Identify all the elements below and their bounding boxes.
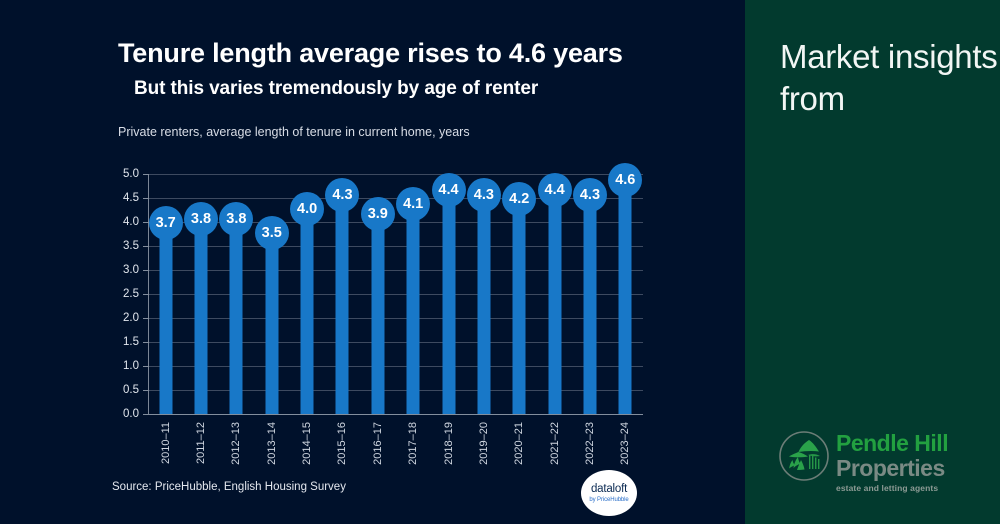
y-axis-label: 1.5: [123, 336, 139, 348]
bar-value-label: 4.4: [538, 173, 572, 207]
chart-bars-layer: 3.72010–113.82011–123.82012–133.52013–14…: [148, 174, 643, 414]
bar-value-label: 4.3: [573, 178, 607, 212]
y-axis-label: 3.5: [123, 240, 139, 252]
x-axis-label: 2011–12: [195, 422, 207, 464]
bar[interactable]: [301, 222, 314, 414]
y-axis-label: 0.0: [123, 408, 139, 420]
x-axis-label: 2014–15: [301, 422, 313, 465]
bar[interactable]: [513, 212, 526, 414]
gridline: [148, 414, 643, 415]
x-axis-label: 2022–23: [584, 422, 596, 465]
y-axis-label: 2.5: [123, 288, 139, 300]
bar-group[interactable]: 4.12017–18: [396, 174, 431, 414]
dataloft-logo-badge: dataloft by PriceHubble: [581, 470, 637, 516]
x-axis-label: 2020–21: [513, 422, 525, 465]
bar-value-label: 3.8: [219, 202, 253, 236]
bar[interactable]: [265, 246, 278, 414]
y-axis-tick: [143, 414, 148, 415]
bar-group[interactable]: 4.62023–24: [608, 174, 643, 414]
y-axis-label: 4.0: [123, 216, 139, 228]
bar-group[interactable]: 4.32015–16: [325, 174, 360, 414]
x-axis-label: 2012–13: [230, 422, 242, 465]
x-axis-label: 2017–18: [407, 422, 419, 465]
bar[interactable]: [371, 227, 384, 414]
bar-value-label: 3.5: [255, 216, 289, 250]
chart-panel: Tenure length average rises to 4.6 years…: [0, 0, 745, 524]
y-axis-label: 5.0: [123, 168, 139, 180]
bar-group[interactable]: 3.72010–11: [148, 174, 183, 414]
market-insights-heading: Market insights from: [780, 36, 1000, 119]
brand-wordmark: Pendle Hill Properties estate and lettin…: [836, 430, 948, 493]
witch-emblem-icon: [778, 430, 830, 487]
bar-value-label: 4.2: [502, 182, 536, 216]
x-axis-label: 2021–22: [549, 422, 561, 465]
x-axis-label: 2019–20: [478, 422, 490, 465]
bar[interactable]: [230, 232, 243, 414]
bar-chart: 0.00.51.01.52.02.53.03.54.04.55.0 3.7201…: [148, 174, 643, 414]
brand-name-line2: Properties: [836, 456, 948, 480]
bar-group[interactable]: 4.42018–19: [431, 174, 466, 414]
x-axis-label: 2010–11: [160, 422, 172, 464]
page-title: Tenure length average rises to 4.6 years: [118, 38, 623, 69]
y-axis-label: 2.0: [123, 312, 139, 324]
bar-group[interactable]: 4.32019–20: [466, 174, 501, 414]
y-axis-label: 1.0: [123, 360, 139, 372]
chart-caption: Private renters, average length of tenur…: [118, 125, 470, 139]
source-note: Source: PriceHubble, English Housing Sur…: [112, 481, 346, 493]
page-subtitle: But this varies tremendously by age of r…: [134, 78, 538, 100]
bar-group[interactable]: 4.02014–15: [289, 174, 324, 414]
brand-panel: Market insights from: [745, 0, 1000, 524]
brand-name-line1: Pendle Hill: [836, 432, 948, 455]
brand-tagline: estate and letting agents: [836, 483, 948, 493]
bar-value-label: 4.1: [396, 187, 430, 221]
dataloft-subtitle: by PriceHubble: [589, 497, 628, 503]
bar[interactable]: [583, 208, 596, 414]
x-axis-label: 2016–17: [372, 422, 384, 465]
bar[interactable]: [336, 208, 349, 414]
bar-value-label: 4.0: [290, 192, 324, 226]
x-axis-label: 2015–16: [336, 422, 348, 465]
bar-group[interactable]: 3.92016–17: [360, 174, 395, 414]
infographic-root: Tenure length average rises to 4.6 years…: [0, 0, 1000, 524]
bar-value-label: 4.3: [467, 178, 501, 212]
bar[interactable]: [442, 203, 455, 414]
bar[interactable]: [548, 203, 561, 414]
bar-group[interactable]: 3.52013–14: [254, 174, 289, 414]
y-axis-label: 3.0: [123, 264, 139, 276]
bar-group[interactable]: 3.82011–12: [183, 174, 218, 414]
y-axis-label: 4.5: [123, 192, 139, 204]
market-insights-text: Market insights from: [780, 38, 997, 117]
bar[interactable]: [619, 193, 632, 414]
y-axis-label: 0.5: [123, 384, 139, 396]
bar-group[interactable]: 4.22020–21: [502, 174, 537, 414]
bar[interactable]: [159, 236, 172, 414]
bar-value-label: 3.8: [184, 202, 218, 236]
x-axis-label: 2018–19: [443, 422, 455, 465]
pendle-hill-properties-logo: Pendle Hill Properties estate and lettin…: [778, 430, 948, 493]
bar-group[interactable]: 4.42021–22: [537, 174, 572, 414]
bar-value-label: 3.7: [149, 206, 183, 240]
x-axis-label: 2023–24: [619, 422, 631, 465]
bar-value-label: 3.9: [361, 197, 395, 231]
bar-group[interactable]: 3.82012–13: [219, 174, 254, 414]
bar[interactable]: [407, 217, 420, 414]
x-axis-label: 2013–14: [266, 422, 278, 465]
bar[interactable]: [477, 208, 490, 414]
bar[interactable]: [195, 232, 208, 414]
bar-group[interactable]: 4.32022–23: [572, 174, 607, 414]
bar-value-label: 4.3: [325, 178, 359, 212]
bar-value-label: 4.6: [608, 163, 642, 197]
dataloft-name: dataloft: [591, 483, 627, 495]
bar-value-label: 4.4: [432, 173, 466, 207]
